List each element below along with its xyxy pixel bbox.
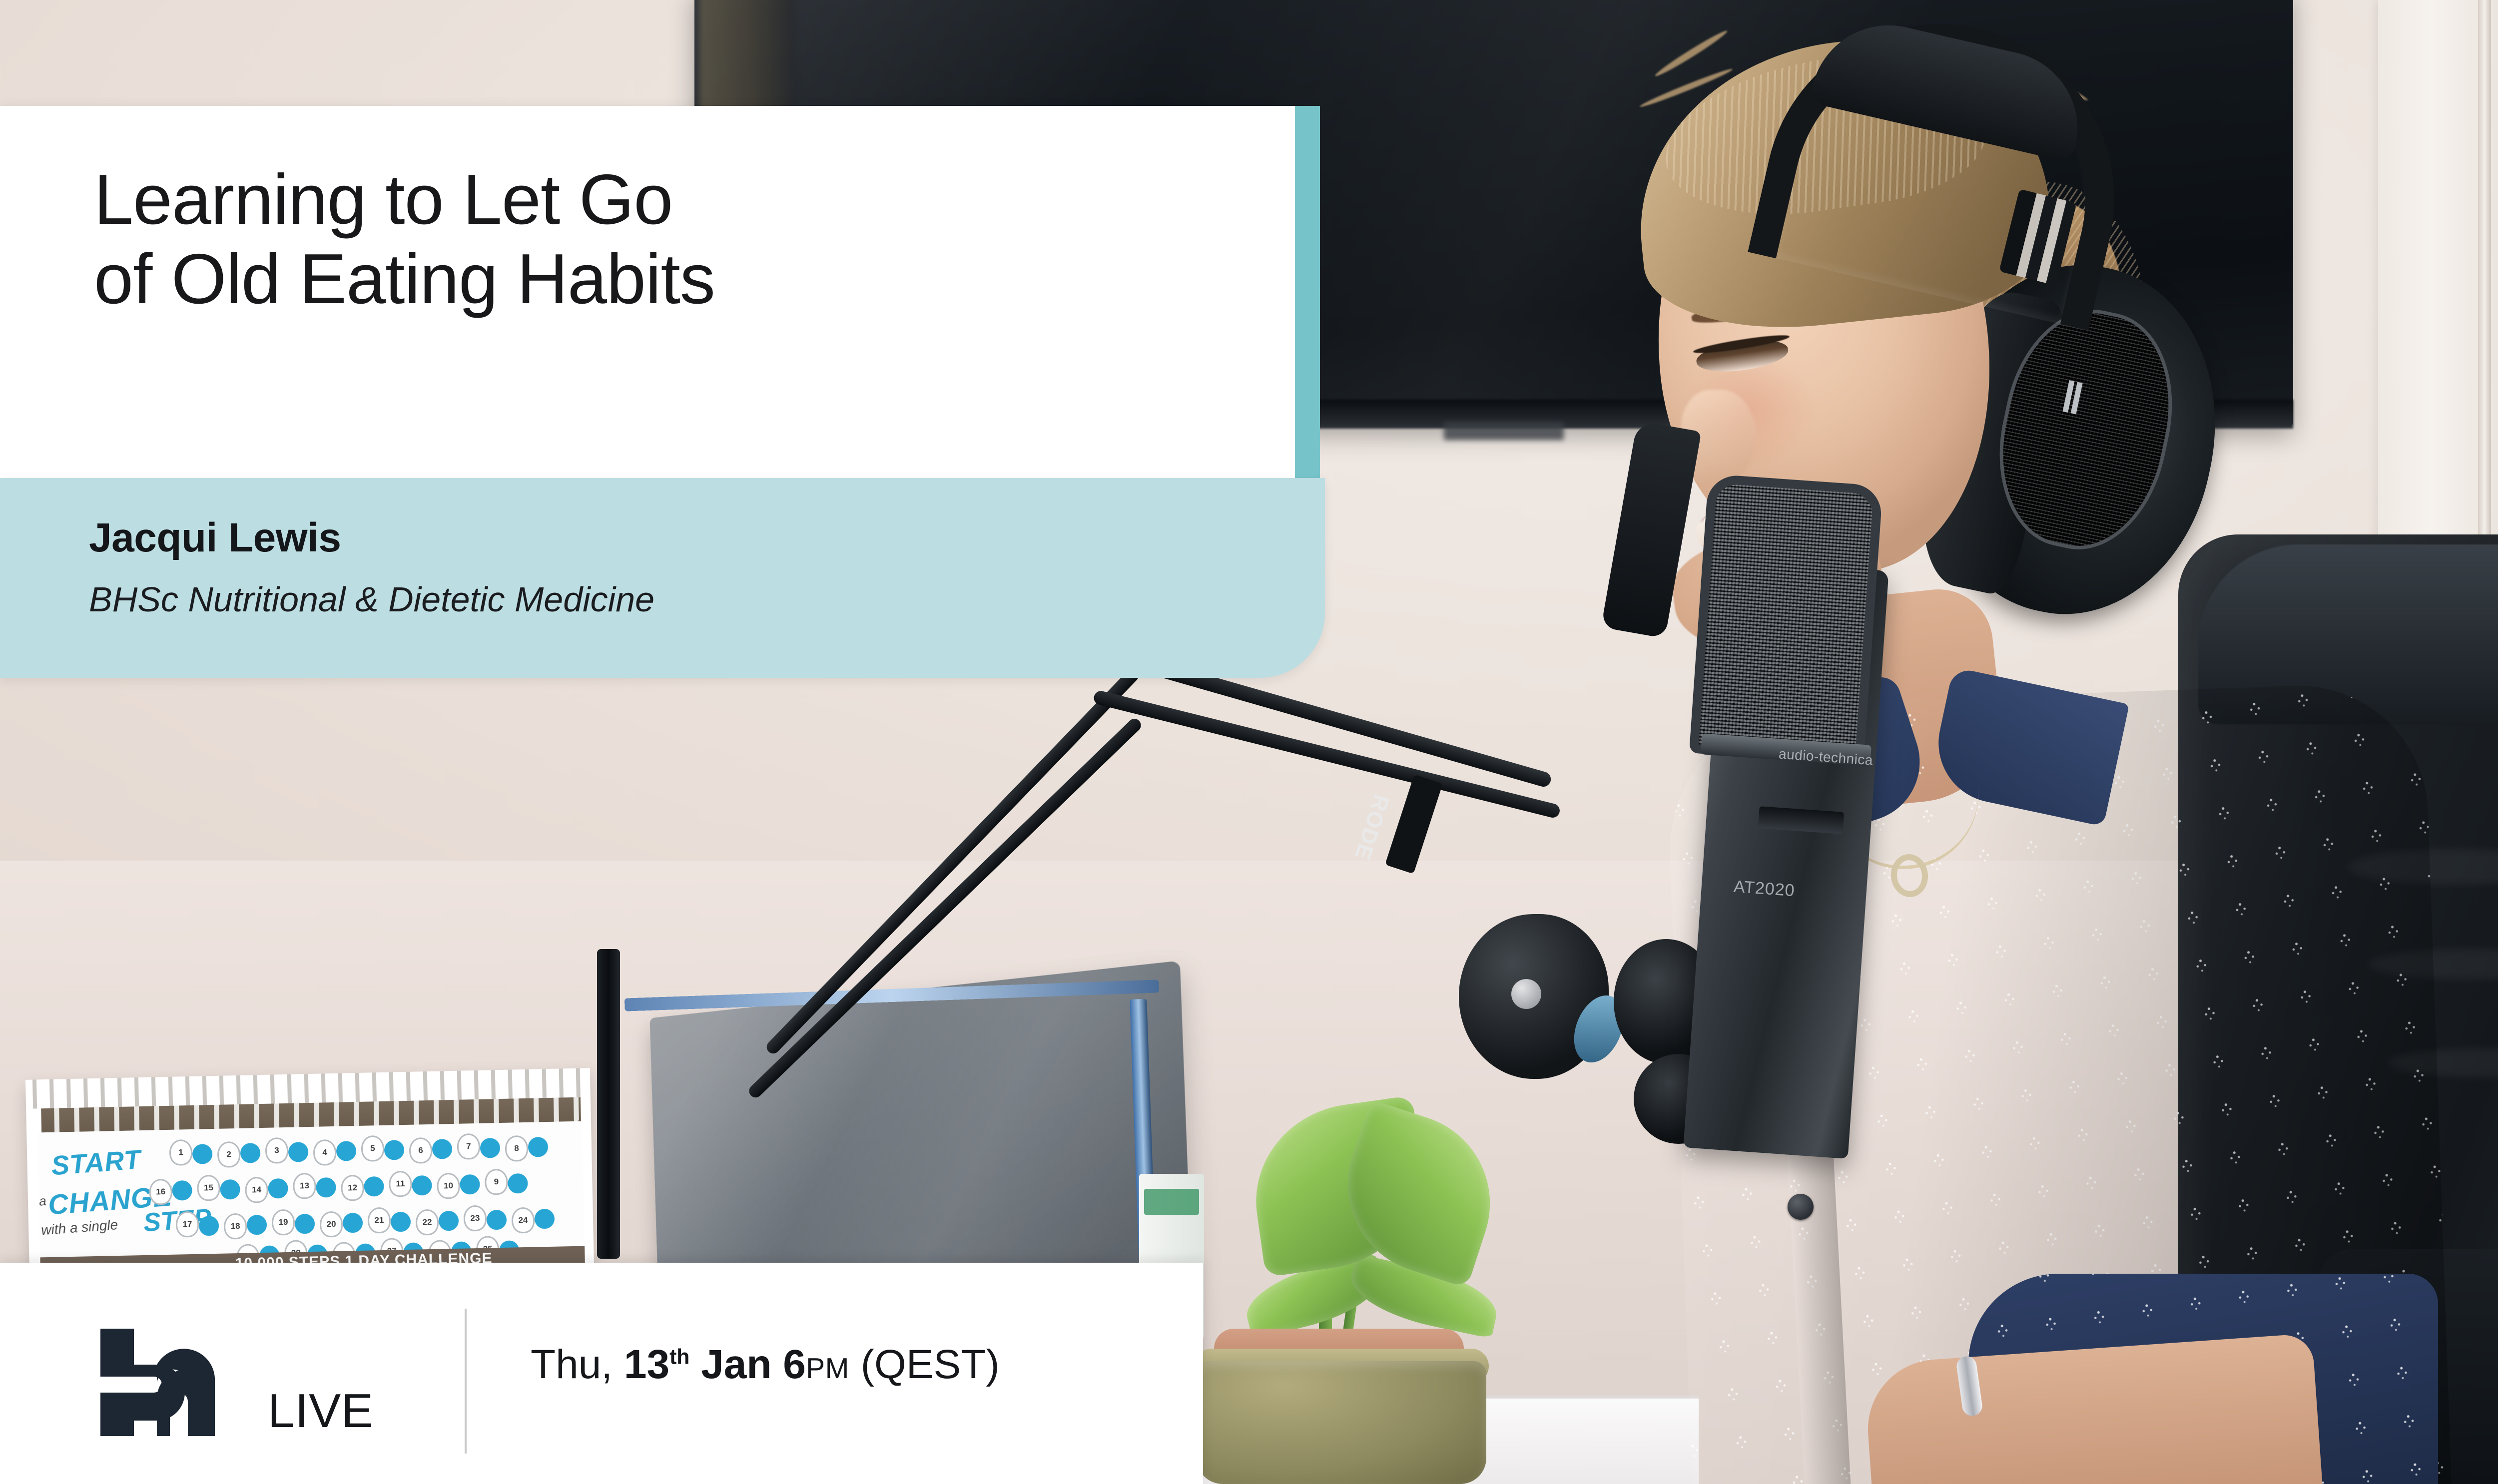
calendar-step-node: 8 xyxy=(505,1135,528,1162)
calendar-step-blob xyxy=(487,1210,507,1230)
event-month: Jan xyxy=(701,1342,771,1387)
calendar-step-node: 1 xyxy=(169,1139,193,1166)
calendar-step-node: 6 xyxy=(409,1137,433,1164)
title-line-2: of Old Eating Habits xyxy=(94,239,1243,319)
hair-wisp xyxy=(1653,28,1729,79)
event-meridiem: PM xyxy=(806,1353,849,1385)
calendar-step-node: 2 xyxy=(217,1141,241,1168)
page-title: Learning to Let Go of Old Eating Habits xyxy=(94,160,1243,319)
calendar-step-node: 12 xyxy=(341,1175,364,1201)
calendar-step-path: 1234567891011121314151617181920212223242… xyxy=(164,1128,581,1254)
calendar-step-node: 18 xyxy=(224,1213,247,1240)
calendar-step-node: 11 xyxy=(389,1171,412,1197)
calendar-word-start: START xyxy=(50,1144,142,1181)
calendar-step-blob xyxy=(412,1175,432,1196)
desk-box-label xyxy=(1144,1189,1199,1215)
calendar-step-node: 15 xyxy=(197,1175,220,1201)
calendar-step-blob xyxy=(288,1142,309,1162)
event-date-ordinal: th xyxy=(669,1345,689,1369)
shirt-button xyxy=(1788,1194,1814,1220)
footer-divider xyxy=(465,1309,467,1454)
calendar-step-blob xyxy=(336,1141,357,1161)
calendar-step-blob xyxy=(384,1140,405,1160)
speaker-name: Jacqui Lewis xyxy=(89,514,341,561)
desk-calendar: START a CHANGE with a single STEP 123456… xyxy=(25,1068,594,1280)
calendar-step-node: 14 xyxy=(245,1177,268,1203)
calendar-step-blob xyxy=(220,1179,240,1200)
calendar-step-node: 7 xyxy=(457,1133,480,1160)
calendar-step-blob xyxy=(316,1177,336,1198)
event-datetime: Thu, 13th Jan 6PM (QEST) xyxy=(531,1341,1000,1388)
plant-pot xyxy=(1197,1361,1486,1484)
calendar-step-blob xyxy=(480,1138,501,1158)
calendar-step-node: 3 xyxy=(265,1137,288,1164)
calendar-step-node: 4 xyxy=(313,1139,337,1166)
calendar-step-blob xyxy=(432,1139,453,1159)
calendar-step-node: 24 xyxy=(512,1207,535,1234)
calendar-step-node: 9 xyxy=(485,1169,508,1195)
calendar-step-blob xyxy=(528,1137,549,1157)
calendar-step-blob xyxy=(199,1216,219,1236)
calendar-step-node: 17 xyxy=(176,1211,199,1238)
calendar-step-blob xyxy=(343,1213,363,1233)
calendar-step-node: 13 xyxy=(293,1173,316,1199)
title-line-1: Learning to Let Go xyxy=(94,160,1243,239)
event-date-number: 13 xyxy=(624,1342,669,1387)
calendar-step-blob xyxy=(391,1212,411,1232)
calendar-step-node: 20 xyxy=(320,1211,343,1238)
calendar-step-blob xyxy=(535,1209,555,1229)
calendar-step-blob xyxy=(172,1180,192,1201)
speaker-band xyxy=(0,478,1325,678)
calendar-step-blob xyxy=(268,1178,288,1199)
event-hour: 6 xyxy=(783,1342,806,1387)
calendar-step-blob xyxy=(508,1173,528,1194)
speaker-credentials: BHSc Nutritional & Dietetic Medicine xyxy=(89,579,654,619)
calendar-step-blob xyxy=(247,1215,267,1235)
mic-stand-post xyxy=(597,949,620,1259)
brand-word-live: LIVE xyxy=(268,1389,374,1436)
calendar-step-blob xyxy=(192,1144,213,1164)
calendar-step-node: 21 xyxy=(367,1207,391,1234)
bn-logo-icon xyxy=(98,1329,263,1436)
microphone-grille-head xyxy=(1689,474,1883,765)
door-edge xyxy=(2478,0,2491,549)
mic-mount-screw xyxy=(1511,979,1541,1009)
calendar-step-node: 22 xyxy=(416,1209,439,1236)
calendar-step-node: 10 xyxy=(437,1173,460,1199)
calendar-step-node: 16 xyxy=(149,1179,172,1205)
title-card-accent-stripe xyxy=(1295,106,1320,478)
poster-canvas: RODE Ⅱ xyxy=(0,0,2498,1484)
event-timezone: (QEST) xyxy=(861,1342,1000,1387)
calendar-step-blob xyxy=(240,1143,261,1163)
calendar-step-node: 5 xyxy=(361,1135,384,1162)
calendar-step-node: 23 xyxy=(463,1205,487,1232)
calendar-step-blob xyxy=(460,1174,480,1195)
event-day: Thu, xyxy=(531,1342,613,1387)
monitor-stand xyxy=(1444,422,1564,440)
calendar-step-blob xyxy=(295,1214,315,1234)
calendar-step-blob xyxy=(364,1176,384,1197)
calendar-step-node: 19 xyxy=(271,1209,295,1236)
brand-logo[interactable]: LIVE xyxy=(98,1321,408,1436)
calendar-word-a: a xyxy=(38,1193,47,1209)
calendar-step-blob xyxy=(439,1211,459,1231)
